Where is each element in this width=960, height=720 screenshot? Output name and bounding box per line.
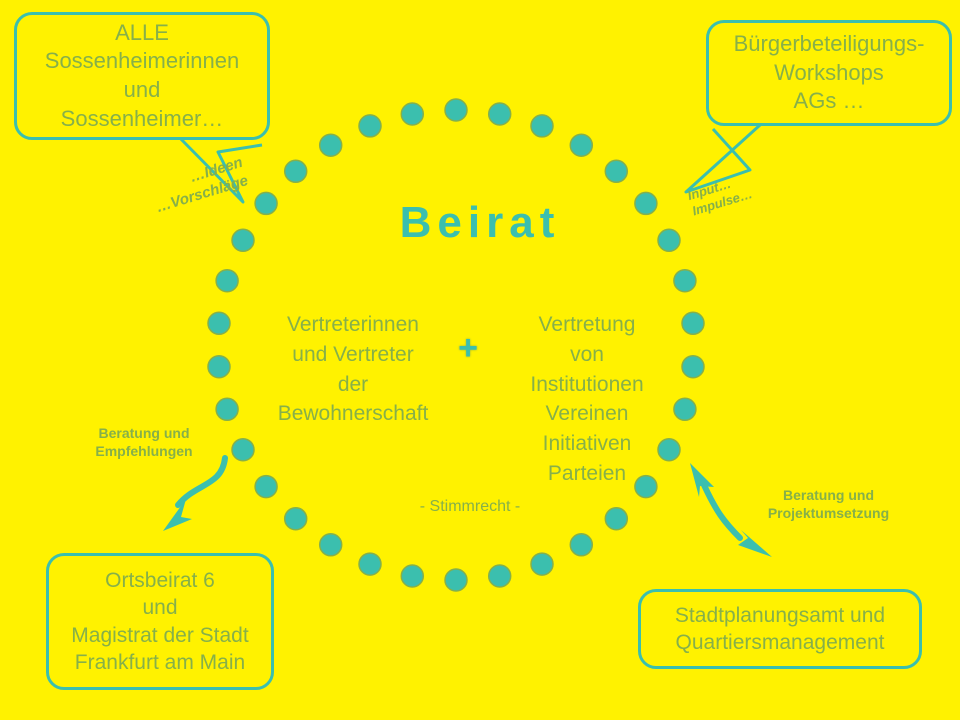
ring-dot	[489, 565, 511, 587]
ring-dot	[320, 534, 342, 556]
center-column-institutions: VertretungvonInstitutionenVereinenInitia…	[492, 310, 682, 489]
ring-dot	[489, 103, 511, 125]
ring-dot	[255, 476, 277, 498]
annotation-input-impulse: Input…Impulse…	[686, 157, 801, 220]
ring-dot	[658, 229, 680, 251]
ring-dot	[359, 553, 381, 575]
ring-dot	[445, 99, 467, 121]
speech-bubble-citizens[interactable]: ALLESossenheimerinnenundSossenheimer…	[14, 12, 270, 140]
annotation-beratung-projektumsetzung: Beratung undProjektumsetzung	[746, 487, 911, 522]
arrow-beratung-empfehlungen-line	[178, 458, 225, 505]
ring-dot	[359, 115, 381, 137]
arrow-beratung-projektumsetzung-line	[704, 485, 740, 538]
ring-dot	[255, 192, 277, 214]
arrow-beratung-projektumsetzung-head-down	[738, 530, 772, 557]
speech-bubble-workshops[interactable]: Bürgerbeteiligungs-WorkshopsAGs …	[706, 20, 952, 126]
ring-dot	[570, 134, 592, 156]
arrow-beratung-empfehlungen-head	[163, 499, 192, 531]
ring-dot	[605, 160, 627, 182]
ring-dot	[682, 312, 704, 334]
ring-dot	[674, 270, 696, 292]
plus-icon: +	[448, 328, 488, 368]
ring-dot	[208, 312, 230, 334]
ring-dot	[216, 398, 238, 420]
annotation-beratung-empfehlungen: Beratung undEmpfehlungen	[74, 425, 214, 460]
box-stadtplanungsamt-quartiersmanagement[interactable]: Stadtplanungsamt undQuartiersmanagement	[638, 589, 922, 669]
box-ortsbeirat-magistrat-text: Ortsbeirat 6undMagistrat der StadtFrankf…	[49, 567, 271, 676]
ring-dot	[682, 356, 704, 378]
ring-dot	[570, 534, 592, 556]
speech-bubble-workshops-text: Bürgerbeteiligungs-WorkshopsAGs …	[709, 30, 949, 116]
ring-dot	[232, 229, 254, 251]
speech-bubble-citizens-text: ALLESossenheimerinnenundSossenheimer…	[17, 19, 267, 133]
ring-dot	[285, 508, 307, 530]
ring-dot	[531, 553, 553, 575]
diagram-canvas: ALLESossenheimerinnenundSossenheimer… Bü…	[0, 0, 960, 720]
voting-right-note: - Stimmrecht -	[390, 498, 550, 516]
ring-dot	[208, 356, 230, 378]
ring-dot	[605, 508, 627, 530]
annotation-ideen-vorschlaege: …Ideen…Vorschläge	[115, 154, 250, 228]
ring-dot	[635, 192, 657, 214]
ring-dot	[445, 569, 467, 591]
center-column-residents: Vertreterinnenund VertreterderBewohnersc…	[258, 310, 448, 429]
box-ortsbeirat-magistrat[interactable]: Ortsbeirat 6undMagistrat der StadtFrankf…	[46, 553, 274, 690]
ring-dot	[320, 134, 342, 156]
box-stadtplanungsamt-quartiersmanagement-text: Stadtplanungsamt undQuartiersmanagement	[641, 602, 919, 657]
arrow-beratung-projektumsetzung-head-up	[690, 463, 714, 497]
ring-dot	[216, 270, 238, 292]
ring-dot	[285, 160, 307, 182]
ring-dot	[401, 103, 423, 125]
page-title: Beirat	[330, 198, 630, 248]
ring-dot	[232, 439, 254, 461]
ring-dot	[401, 565, 423, 587]
ring-dot	[531, 115, 553, 137]
